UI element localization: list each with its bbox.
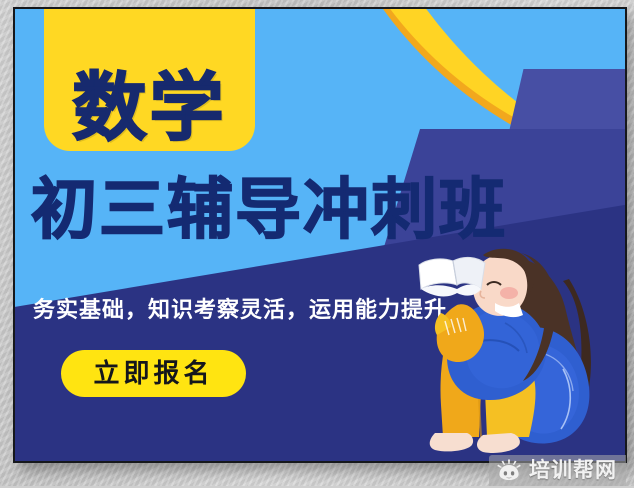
watermark: 培训帮网: [489, 455, 626, 486]
watermark-text: 培训帮网: [529, 460, 617, 481]
seated-girl-reading-illustration: [413, 241, 625, 461]
page-backdrop: 数学 初三辅导冲刺班 务实基础，知识考察灵活，运用能力提升 立即报名: [0, 0, 634, 486]
poster-canvas: 数学 初三辅导冲刺班 务实基础，知识考察灵活，运用能力提升 立即报名: [15, 9, 625, 461]
subject-badge-label: 数学: [73, 71, 227, 145]
sun-face-icon: [496, 459, 522, 483]
enroll-now-button[interactable]: 立即报名: [61, 350, 246, 397]
poster-subtitle: 务实基础，知识考察灵活，运用能力提升: [33, 298, 447, 324]
poster-headline: 初三辅导冲刺班: [31, 177, 611, 243]
enroll-now-label: 立即报名: [93, 361, 213, 387]
subject-badge: 数学: [44, 9, 255, 151]
poster-frame: 数学 初三辅导冲刺班 务实基础，知识考察灵活，运用能力提升 立即报名: [13, 7, 627, 463]
